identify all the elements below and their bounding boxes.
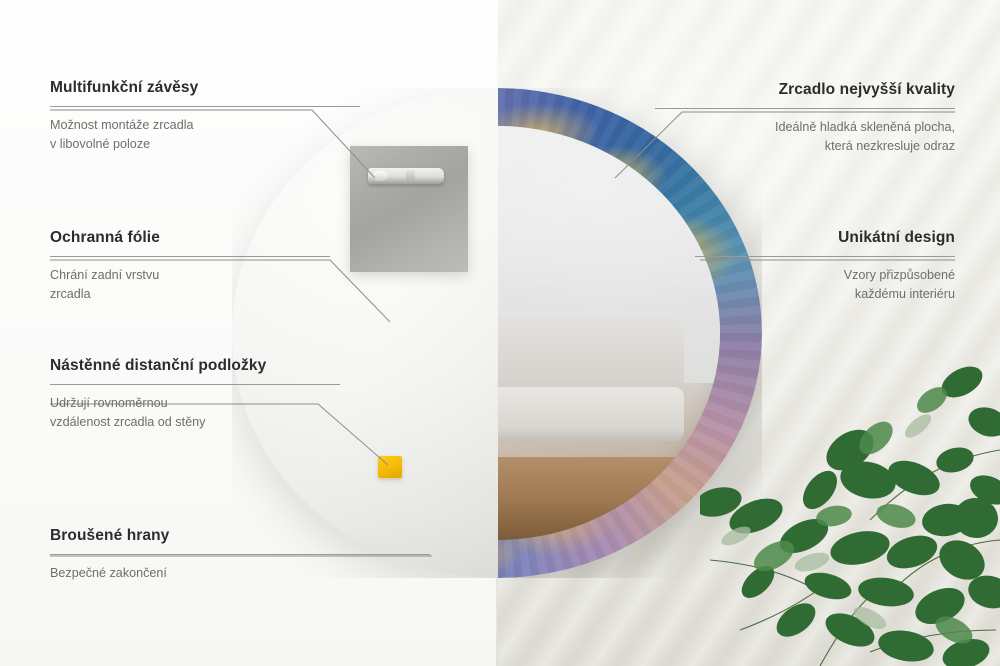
callout-line-2: každému interiéru [695,285,955,303]
callout-ochranna-folie: Ochranná fólie Chrání zadní vrstvu zrcad… [50,228,330,303]
hanger-slot-icon [406,170,415,181]
hanger-mounting-plate [350,146,468,272]
decorative-plant [700,330,1000,666]
callout-rule [50,106,360,107]
callout-line-1: Možnost montáže zrcadla [50,116,360,134]
callout-title: Broušené hrany [50,526,430,545]
infographic-canvas: Multifunkční závěsy Možnost montáže zrca… [0,0,1000,666]
callout-line-1: Udržují rovnoměrnou [50,394,340,412]
callout-line-2: zrcadla [50,285,330,303]
callout-rule [50,256,330,257]
callout-zrcadlo-nejvyssi-kvality: Zrcadlo nejvyšší kvality Ideálně hladká … [655,80,955,155]
callout-title: Ochranná fólie [50,228,330,247]
callout-rule [655,108,955,109]
callout-title: Zrcadlo nejvyšší kvality [655,80,955,99]
callout-line-2: vzdálenost zrcadla od stěny [50,413,340,431]
callout-unikatni-design: Unikátní design Vzory přizpůsobené každé… [695,228,955,303]
callout-line-2: která nezkresluje odraz [655,137,955,155]
callout-multifunkcni-zavesy: Multifunkční závěsy Možnost montáže zrca… [50,78,360,153]
callout-rule [50,554,430,555]
callout-line-1: Bezpečné zakončení [50,564,430,582]
callout-title: Multifunkční závěsy [50,78,360,97]
callout-line-1: Chrání zadní vrstvu [50,266,330,284]
callout-title: Unikátní design [695,228,955,247]
callout-nastenne-distancni-podlozky: Nástěnné distanční podložky Udržují rovn… [50,356,340,431]
callout-brousene-hrany: Broušené hrany Bezpečné zakončení [50,526,430,583]
callout-rule [50,384,340,385]
callout-line-1: Ideálně hladká skleněná plocha, [655,118,955,136]
callout-rule [695,256,955,257]
yellow-wall-spacer-pad [378,456,402,478]
callout-line-1: Vzory přizpůsobené [695,266,955,284]
callout-line-2: v libovolné poloze [50,135,360,153]
callout-title: Nástěnné distanční podložky [50,356,340,375]
